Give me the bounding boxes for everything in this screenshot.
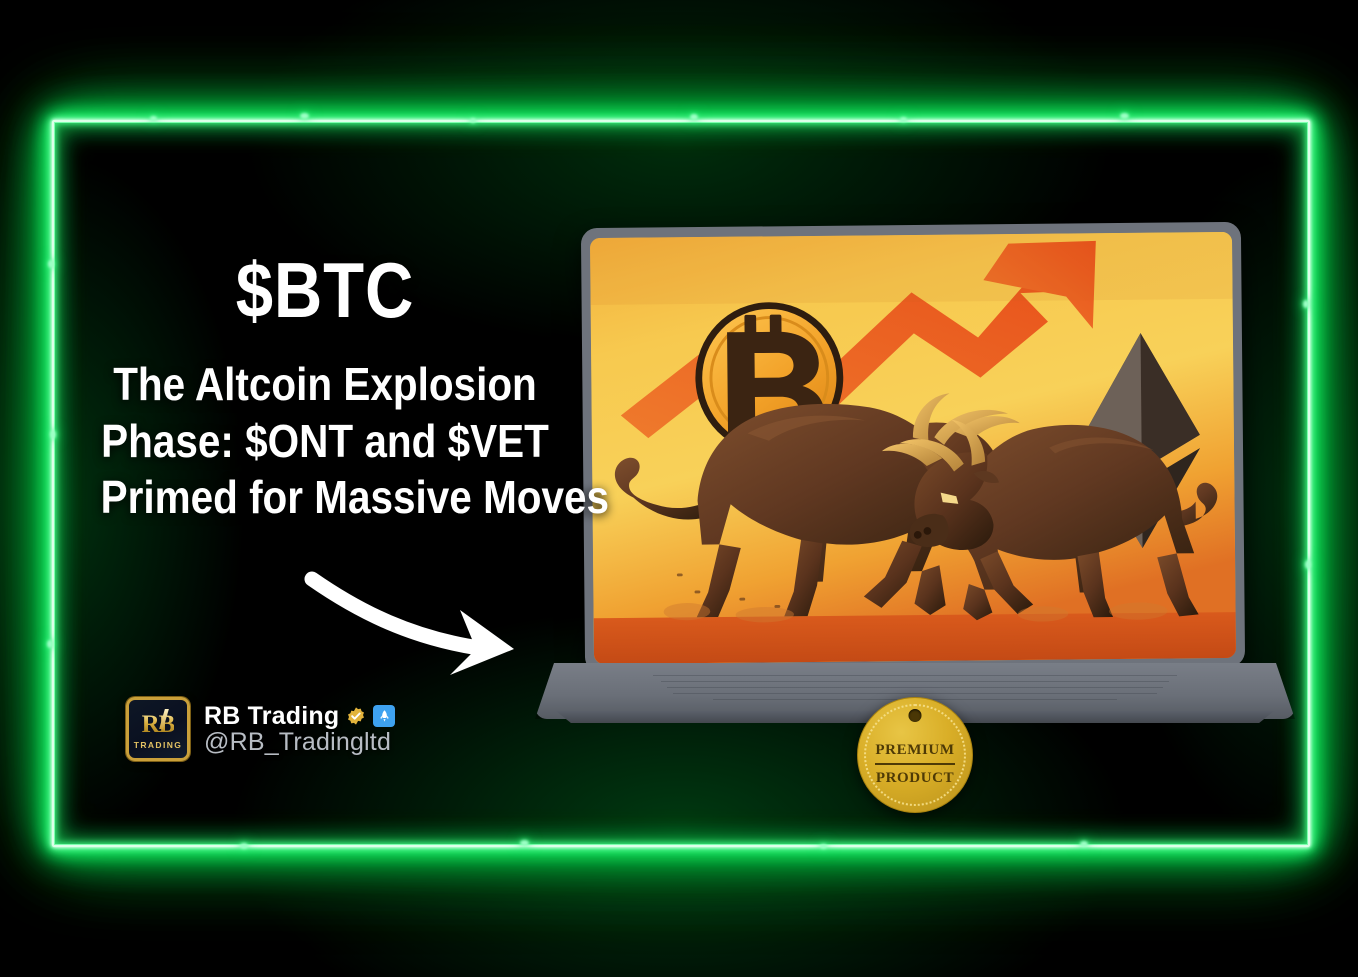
headline-line-2: Phase: $ONT and $VET (101, 413, 550, 469)
premium-label: PREMIUM (875, 740, 954, 764)
brand-name: RB Trading (204, 702, 339, 731)
headline-subtitle: The Altcoin Explosion Phase: $ONT and $V… (101, 356, 550, 524)
neon-spark (520, 840, 529, 846)
headline-line-1: The Altcoin Explosion (101, 356, 550, 412)
tag-hole (909, 709, 922, 722)
neon-spark (1120, 113, 1129, 119)
logo-monogram: RB (142, 712, 175, 737)
page-title-ticker: $BTC (106, 252, 545, 328)
neon-spark (300, 113, 309, 119)
neon-spark (50, 430, 56, 439)
verified-badge-icon (346, 706, 366, 726)
neon-spark (900, 117, 907, 122)
laptop-mockup (535, 225, 1295, 735)
promo-canvas: $BTC The Altcoin Explosion Phase: $ONT a… (0, 0, 1358, 977)
neon-spark (470, 118, 476, 123)
rb-trading-logo-icon: RB TRADING (126, 697, 190, 761)
neon-spark (690, 114, 698, 120)
neon-spark (1303, 300, 1309, 308)
premium-product-badge: PREMIUM PRODUCT (857, 697, 973, 813)
brand-row[interactable]: RB TRADING RB Trading (126, 697, 395, 761)
brand-name-row: RB Trading (204, 702, 395, 731)
product-label: PRODUCT (876, 768, 954, 788)
laptop-screen (590, 232, 1236, 664)
neon-spark (48, 260, 54, 268)
rocket-icon (373, 705, 395, 727)
neon-spark (150, 116, 157, 121)
brand-text-block: RB Trading @RB_Tradingltd (204, 702, 395, 757)
logo-subtitle: TRADING (134, 740, 183, 750)
neon-spark (240, 843, 248, 849)
headline-line-3: Primed for Massive Moves (101, 469, 550, 525)
neon-spark (1305, 560, 1311, 569)
laptop-lid (581, 222, 1245, 673)
neon-spark (1080, 841, 1088, 847)
neon-spark (47, 640, 53, 648)
brand-handle: @RB_Tradingltd (204, 728, 395, 757)
neon-spark (820, 844, 827, 849)
headline-block: $BTC The Altcoin Explosion Phase: $ONT a… (70, 252, 580, 525)
curved-pointer-arrow-icon (300, 565, 570, 685)
screen-artwork (590, 232, 1236, 664)
